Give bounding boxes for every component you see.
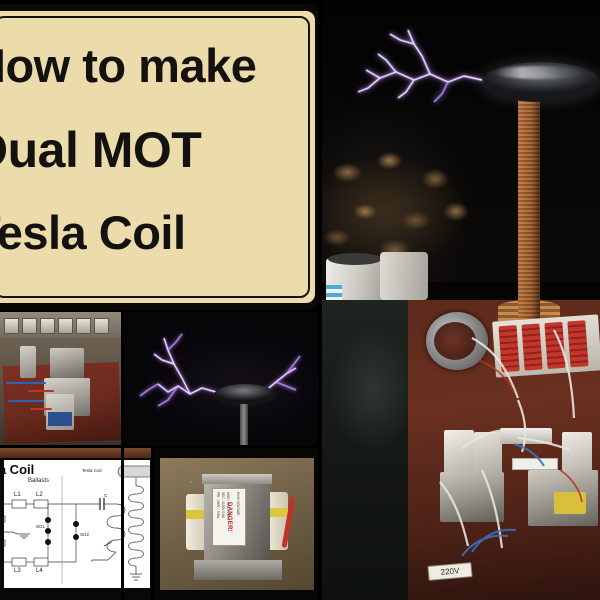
wood-edge xyxy=(0,448,152,458)
mot-unit-upper xyxy=(50,348,84,378)
indoor-build-photo xyxy=(0,312,122,445)
toroid-closeup xyxy=(214,384,276,406)
title-sign: How to make Dual MOT Tesla Coil xyxy=(0,4,322,310)
capacitor-blue-band xyxy=(48,412,72,426)
title-line-3: Tesla Coil xyxy=(0,209,186,256)
circuit-drawing xyxy=(4,460,150,588)
schematic-heading: sla Coil xyxy=(0,462,34,477)
panel-separator-vertical-right xyxy=(318,0,322,600)
coil-stem xyxy=(240,404,248,445)
tesla-coil-night-photo: 220V xyxy=(322,0,600,600)
danger-label-spec-2: SEC : 2100V 0.6A xyxy=(221,492,225,518)
panel-separator-vertical-left xyxy=(121,312,124,600)
panel-separator-horizontal xyxy=(0,445,322,448)
spark-streamer xyxy=(124,312,320,445)
schematic-ref-l3: L3 xyxy=(14,568,21,574)
schematic-ref-sg2: SG2 xyxy=(80,532,89,537)
schematic-sheet: Ballasts Tesla Coil L1 L2 L3 L4 SG1 SG2 … xyxy=(4,460,150,588)
wiring-harness xyxy=(322,0,600,600)
title-sign-inner: How to make Dual MOT Tesla Coil xyxy=(0,16,310,298)
small-capacitor xyxy=(20,346,36,378)
schematic-label-ballasts: Ballasts xyxy=(28,478,49,484)
schematic-ref-c: C xyxy=(104,493,107,498)
schematic-ref-l1: L1 xyxy=(14,492,21,498)
schematic-label-tesla-coil: Tesla Coil xyxy=(82,468,102,473)
schematic-ref-sg1: SG1 xyxy=(36,524,45,529)
title-line-2: Dual MOT xyxy=(0,125,201,175)
mounting-bracket xyxy=(194,560,282,580)
transformer-core-top xyxy=(202,474,272,484)
danger-label-spec-3: MOD : GAL-900E-4 xyxy=(226,492,230,520)
schematic-diagram: Ballasts Tesla Coil L1 L2 L3 L4 SG1 SG2 … xyxy=(0,448,152,600)
video-thumbnail: 220V xyxy=(0,0,600,600)
mot-transformer-photo: DANGER! HIGH VOLTAGE PRI : 230V ~ 50Hz S… xyxy=(154,448,320,600)
panel-separator-vertical-mid xyxy=(151,448,154,600)
title-line-1: How to make xyxy=(0,42,256,89)
schematic-ref-l4: L4 xyxy=(36,568,43,574)
schematic-ref-l2: L2 xyxy=(36,492,43,498)
danger-label-spec-1: PRI : 230V ~ 50Hz xyxy=(216,492,220,519)
danger-label-subline: HIGH VOLTAGE xyxy=(236,492,240,515)
arc-closeup-photo xyxy=(124,312,320,445)
